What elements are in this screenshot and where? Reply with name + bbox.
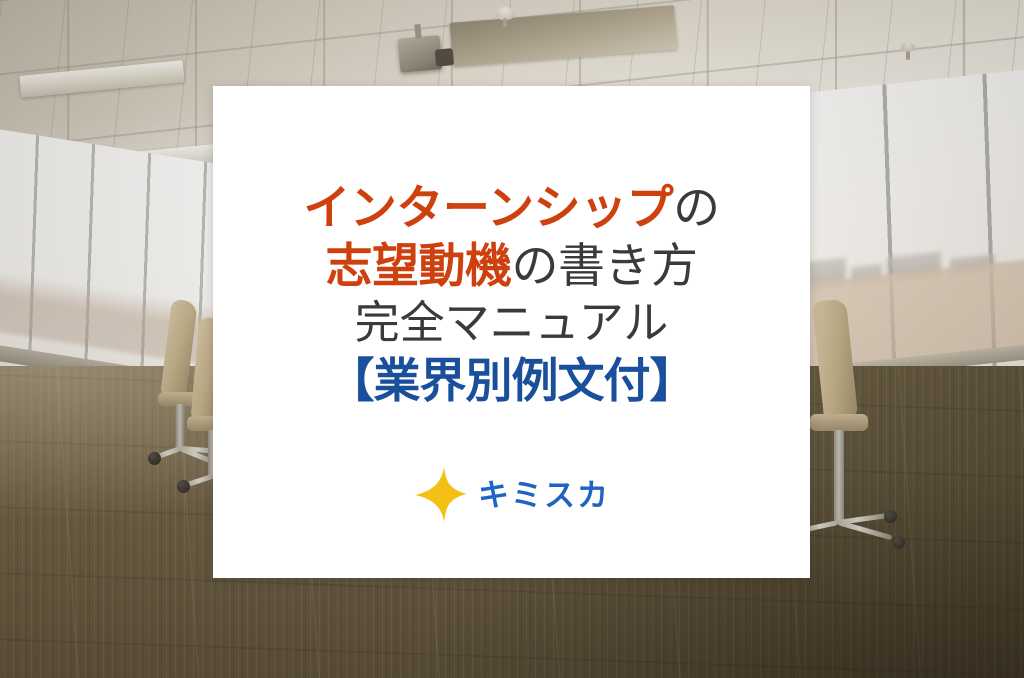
title-card: インターンシップの 志望動機の書き方 完全マニュアル 【業界別例文付】 キミスカ (213, 86, 810, 578)
headline-line-1: インターンシップの (213, 184, 810, 231)
headline-line-2-plain: の書き方 (512, 239, 698, 292)
headline-line-1-emphasis: インターンシップ (303, 181, 673, 234)
sprinkler-head (901, 42, 915, 52)
brand-logo: キミスカ (413, 466, 610, 524)
headline-line-2-emphasis: 志望動機 (326, 239, 512, 292)
headline-line-3: 完全マニュアル (213, 300, 810, 345)
logo-wordmark: キミスカ (478, 480, 610, 511)
ceiling-projector (398, 36, 443, 74)
screenshot-root: インターンシップの 志望動機の書き方 完全マニュアル 【業界別例文付】 キミスカ (0, 0, 1024, 678)
sparkle-star-icon (413, 466, 469, 524)
sprinkler-head (495, 7, 515, 20)
headline-line-1-plain: の (673, 181, 720, 234)
headline-line-2: 志望動機の書き方 (213, 242, 810, 289)
headline-line-4: 【業界別例文付】 (213, 357, 810, 404)
headline-block: インターンシップの 志望動機の書き方 完全マニュアル 【業界別例文付】 (213, 184, 810, 404)
